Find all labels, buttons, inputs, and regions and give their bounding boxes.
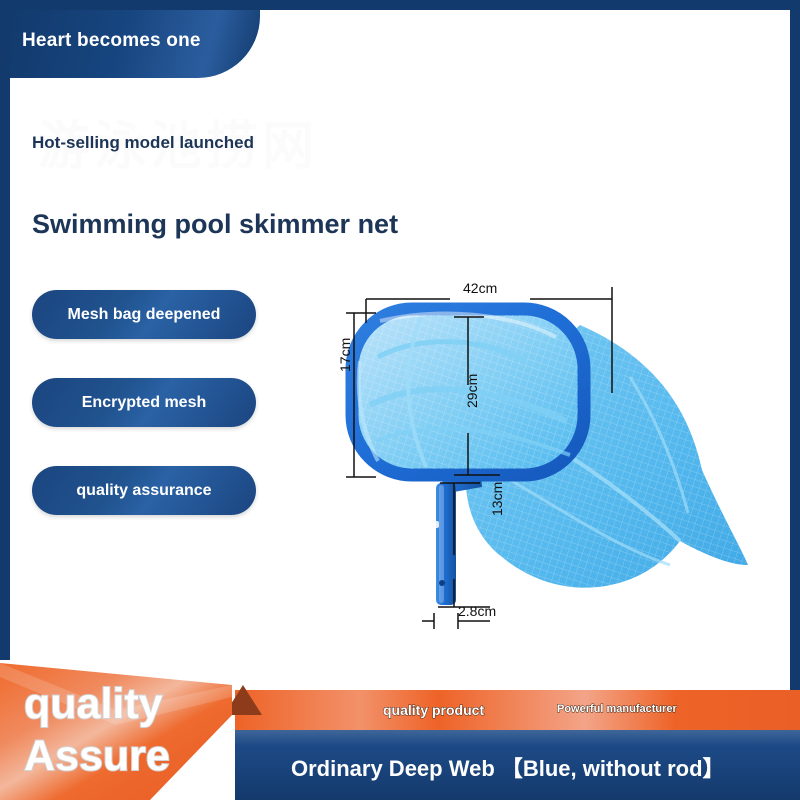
feature-pill-mesh-bag-deepened[interactable]: Mesh bag deepened [32, 290, 256, 339]
dimension-label-handle-width: 2.8cm [458, 603, 496, 619]
footer-badge-text: quality Assure [24, 678, 170, 782]
frame-left-border [0, 0, 10, 660]
header-ribbon: Heart becomes one [10, 10, 260, 78]
frame-top-border [0, 0, 800, 10]
handle [430, 465, 482, 605]
dimension-label-frame-height: 17cm [337, 338, 353, 372]
product-image [330, 265, 750, 635]
header-banner-label: Heart becomes one [22, 30, 201, 52]
footer-caption-right: Powerful manufacturer [557, 703, 677, 715]
footer-caption-left: quality product [383, 702, 484, 718]
frame-right-border [790, 0, 800, 690]
promo-banner-page: 游泳池捞网 Heart becomes one Hot-selling mode… [0, 0, 800, 800]
dimension-label-width: 42cm [463, 280, 497, 296]
dimension-label-handle-length: 13cm [489, 482, 505, 516]
footer-product-variant: Ordinary Deep Web 【Blue, without rod】 [291, 751, 725, 783]
page-title: Swimming pool skimmer net [32, 209, 398, 240]
eyebrow-text: Hot-selling model launched [32, 133, 254, 153]
dimension-label-bag-depth: 29cm [464, 374, 480, 408]
feature-pill-quality-assurance[interactable]: quality assurance [32, 466, 256, 515]
feature-pill-encrypted-mesh[interactable]: Encrypted mesh [32, 378, 256, 427]
